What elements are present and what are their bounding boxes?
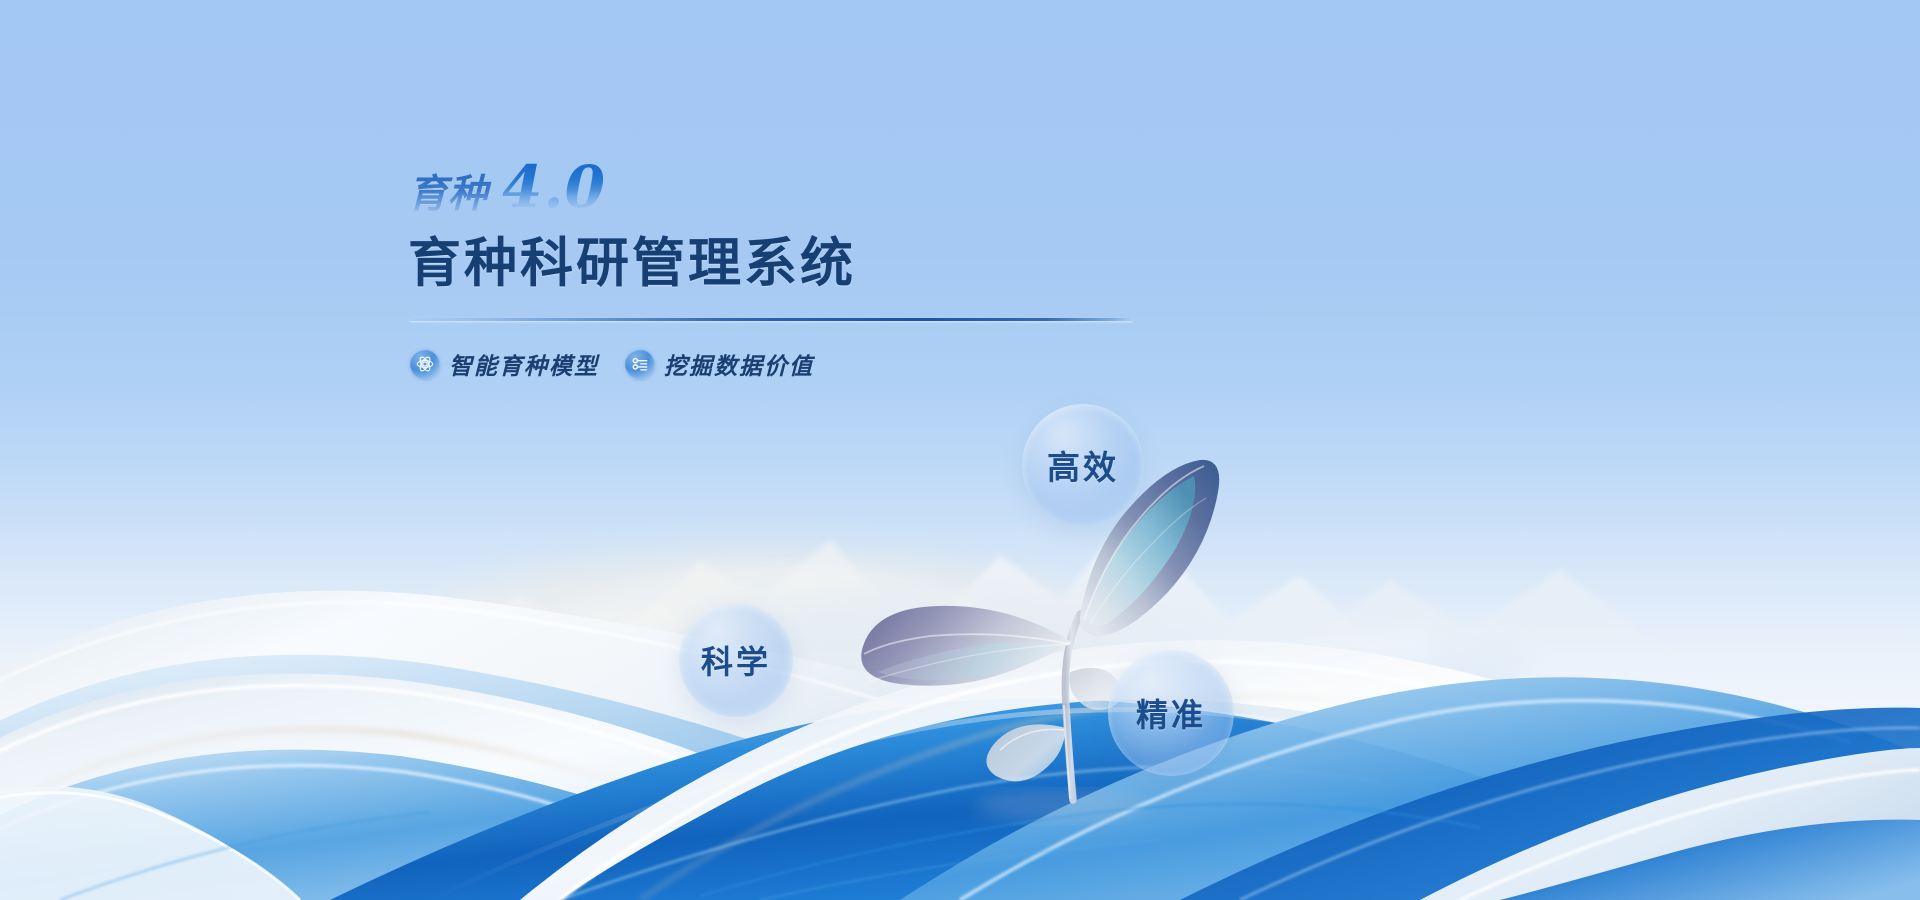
page-title: 育种科研管理系统 xyxy=(408,236,1148,292)
badge-label: 科学 xyxy=(701,637,771,683)
badge-label: 高效 xyxy=(1047,441,1119,489)
eyebrow-version: 4.0 xyxy=(502,158,606,216)
eyebrow: 育种 4.0 xyxy=(408,158,1148,224)
badge-gaoxiao: 高效 xyxy=(1022,404,1144,526)
sliders-icon xyxy=(625,349,655,379)
eyebrow-label: 育种 xyxy=(408,175,488,214)
atom-icon xyxy=(410,349,440,379)
feature-tag-model: 智能育种模型 xyxy=(410,347,599,381)
divider xyxy=(410,318,1132,321)
feature-tag-label: 智能育种模型 xyxy=(449,347,599,381)
background-illustration xyxy=(0,0,1920,900)
hero-banner: 育种 4.0 育种科研管理系统 智能育种模 xyxy=(0,0,1920,900)
badge-kexue: 科学 xyxy=(679,603,793,717)
hero-content: 育种 4.0 育种科研管理系统 智能育种模 xyxy=(408,158,1148,381)
feature-tag-data: 挖掘数据价值 xyxy=(625,347,814,381)
feature-tag-label: 挖掘数据价值 xyxy=(664,347,814,381)
feature-tag-row: 智能育种模型 挖掘数据价值 xyxy=(410,347,1148,381)
badge-label: 精准 xyxy=(1136,690,1206,736)
badge-jingzhun: 精准 xyxy=(1108,650,1234,776)
